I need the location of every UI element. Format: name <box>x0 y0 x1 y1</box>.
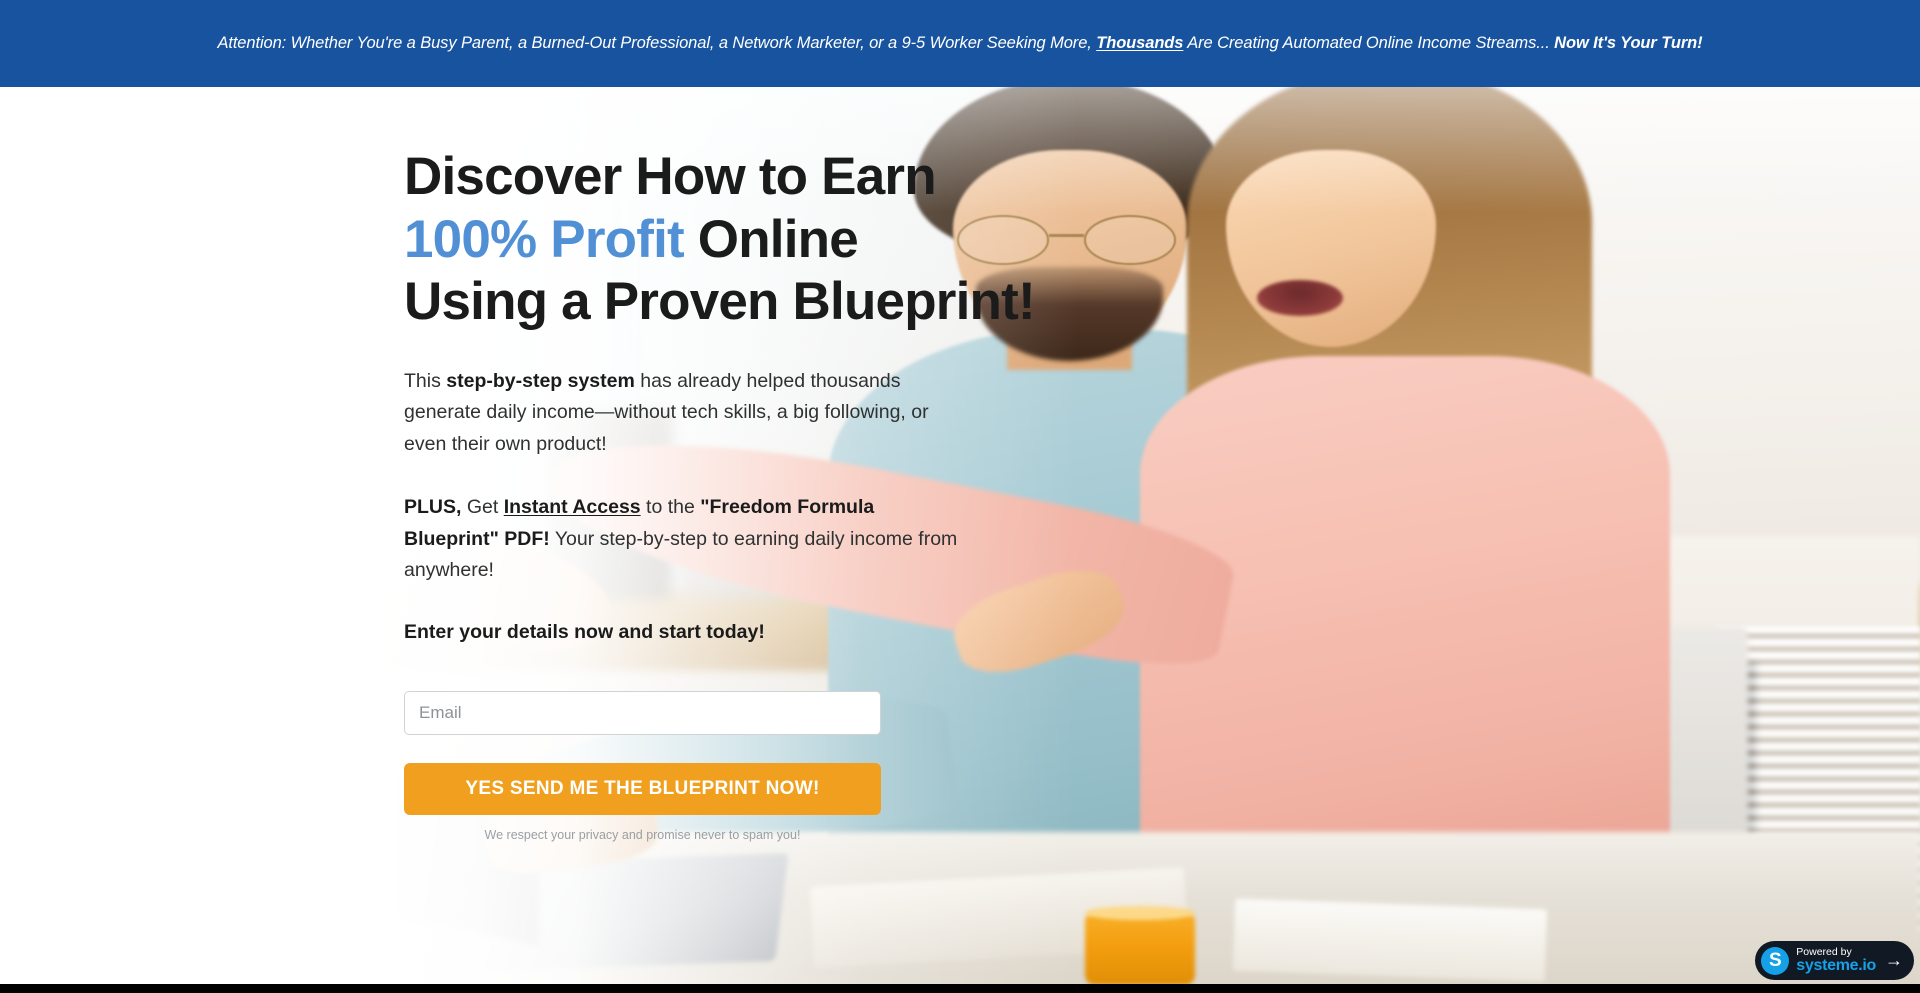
systeme-brand-label: systeme.io <box>1796 958 1876 975</box>
desk-papers-2 <box>1232 899 1546 982</box>
powered-by-systeme-badge[interactable]: S Powered by systeme.io → <box>1755 941 1914 980</box>
privacy-note: We respect your privacy and promise neve… <box>404 828 881 842</box>
juice-glass <box>1085 913 1194 985</box>
paragraph2-bold-plus: PLUS, <box>404 496 461 518</box>
headline-line-1: Discover How to Earn <box>404 147 936 206</box>
paragraph2-part2: to the <box>641 496 701 518</box>
eyeglass-bridge <box>1049 234 1084 237</box>
landing-page: Attention: Whether You're a Busy Parent,… <box>0 0 1920 993</box>
signup-form: YES SEND ME THE BLUEPRINT NOW! We respec… <box>404 691 881 842</box>
banner-lead-text: Attention: Whether You're a Busy Parent,… <box>217 34 1096 52</box>
banner-middle-text: Are Creating Automated Online Income Str… <box>1183 34 1554 52</box>
attention-banner: Attention: Whether You're a Busy Parent,… <box>0 0 1920 87</box>
hero-content-column: Discover How to Earn 100% Profit Online … <box>404 87 1044 842</box>
headline-line-3: Using a Proven Blueprint! <box>404 272 1035 331</box>
attention-banner-text: Attention: Whether You're a Busy Parent,… <box>217 34 1702 53</box>
woman-mouth <box>1257 280 1343 316</box>
left-white-gutter <box>0 87 362 985</box>
bottom-black-strip <box>0 984 1920 993</box>
systeme-badge-text: Powered by systeme.io <box>1796 947 1876 975</box>
email-input[interactable] <box>404 691 881 735</box>
powered-by-label: Powered by <box>1796 947 1876 958</box>
arrow-right-icon: → <box>1885 950 1903 971</box>
systeme-logo-icon: S <box>1761 947 1789 975</box>
hero-paragraph-1: This step-by-step system has already hel… <box>404 366 964 461</box>
banner-emphasis-thousands: Thousands <box>1096 34 1183 52</box>
submit-button[interactable]: YES SEND ME THE BLUEPRINT NOW! <box>404 763 881 815</box>
page-title: Discover How to Earn 100% Profit Online … <box>404 146 1044 334</box>
paragraph1-bold-step-by-step: step-by-step system <box>446 370 635 392</box>
eyeglass-lens-right <box>1084 215 1176 264</box>
paragraph1-part1: This <box>404 370 446 392</box>
headline-accent-100-profit: 100% Profit <box>404 210 684 269</box>
enter-details-prompt: Enter your details now and start today! <box>404 621 1044 644</box>
paragraph2-part1: Get <box>461 496 503 518</box>
headline-line-2-rest: Online <box>684 210 858 269</box>
hero-paragraph-2: PLUS, Get Instant Access to the "Freedom… <box>404 492 964 587</box>
banner-closing-text: Now It's Your Turn! <box>1554 34 1702 52</box>
paragraph2-link-instant-access[interactable]: Instant Access <box>504 496 641 518</box>
